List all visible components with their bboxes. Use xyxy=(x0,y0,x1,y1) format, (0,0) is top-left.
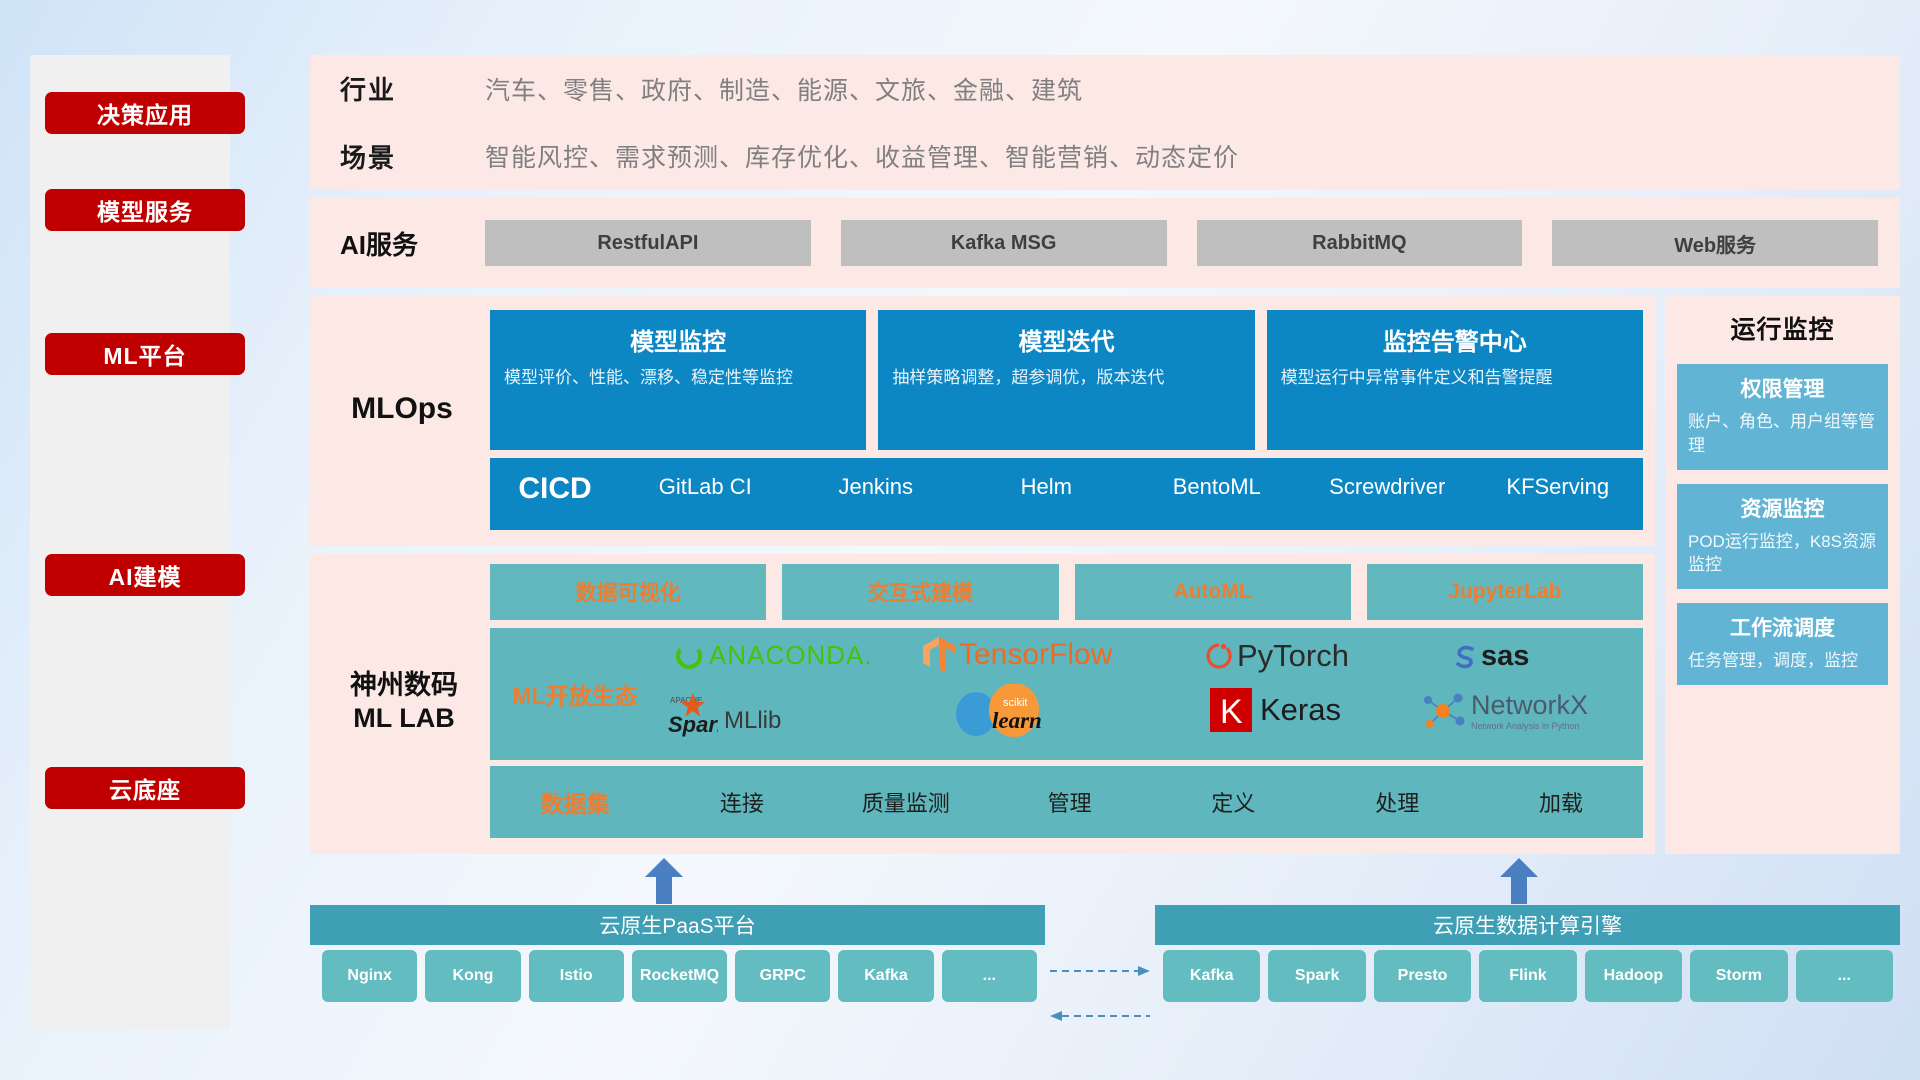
tool-interactive-modeling[interactable]: 交互式建模 xyxy=(782,564,1058,620)
keras-mark: K xyxy=(1208,686,1252,734)
ml-ecosystem-row: ML开放生态 ANACONDA. TensorFlow xyxy=(490,628,1643,760)
dashed-arrow-left-icon xyxy=(1050,1010,1150,1022)
mlops-card-model-monitoring[interactable]: 模型监控 模型评价、性能、漂移、稳定性等监控 xyxy=(490,310,866,450)
networkx-tagline: Network Analysis in Python xyxy=(1471,721,1588,731)
ml-lab-label-line1: 神州数码 xyxy=(324,669,484,702)
keras-wordmark: Keras xyxy=(1260,692,1341,728)
sas-logo: sas xyxy=(1450,640,1529,673)
ai-service-chip-restfulapi[interactable]: RestfulAPI xyxy=(485,220,811,266)
tool-data-visualization[interactable]: 数据可视化 xyxy=(490,564,766,620)
ml-lab-label-line2: ML LAB xyxy=(324,702,484,735)
cicd-title: CICD xyxy=(490,472,620,506)
data-chip-more[interactable]: ... xyxy=(1796,950,1893,1002)
runtime-monitoring-panel: 运行监控 权限管理 账户、角色、用户组等管理 资源监控 POD运行监控，K8S资… xyxy=(1665,296,1900,854)
industry-row: 行业 汽车、零售、政府、制造、能源、文旅、金融、建筑 xyxy=(310,55,1900,123)
networkx-logo: NetworkX Network Analysis in Python xyxy=(1420,688,1588,734)
rail-chip-cloud-base[interactable]: 云底座 xyxy=(45,767,245,809)
scikit-learn-logo: scikit learn xyxy=(950,684,1080,740)
card-desc: 抽样策略调整，超参调优，版本迭代 xyxy=(892,366,1240,390)
scenario-label: 场景 xyxy=(340,138,485,175)
cicd-item-screwdriver[interactable]: Screwdriver xyxy=(1302,472,1473,502)
dataset-row: 数据集 连接 质量监测 管理 定义 处理 加载 xyxy=(490,766,1643,838)
dataset-item-connect[interactable]: 连接 xyxy=(660,786,824,818)
dataset-item-define[interactable]: 定义 xyxy=(1151,786,1315,818)
industry-label: 行业 xyxy=(340,70,485,107)
ai-service-items: RestfulAPI Kafka MSG RabbitMQ Web服务 xyxy=(485,220,1900,266)
spark-mllib-logo: APACHE Spark MLlib xyxy=(668,690,781,738)
svg-text:Spark: Spark xyxy=(668,712,718,737)
decision-apps-band: 行业 汽车、零售、政府、制造、能源、文旅、金融、建筑 场景 智能风控、需求预测、… xyxy=(310,55,1900,190)
tensorflow-logo: TensorFlow xyxy=(922,636,1112,674)
dashed-arrow-right-icon xyxy=(1050,965,1150,977)
rail-chip-ml-platform[interactable]: ML平台 xyxy=(45,333,245,375)
card-desc: 账户、角色、用户组等管理 xyxy=(1688,410,1877,458)
paas-chip-nginx[interactable]: Nginx xyxy=(322,950,417,1002)
svg-text:learn: learn xyxy=(992,708,1042,733)
rail-chip-decision-apps[interactable]: 决策应用 xyxy=(45,92,245,134)
rail-chip-model-service[interactable]: 模型服务 xyxy=(45,189,245,231)
mlops-card-alert-center[interactable]: 监控告警中心 模型运行中异常事件定义和告警提醒 xyxy=(1267,310,1643,450)
anaconda-mark xyxy=(674,641,704,671)
cicd-item-gitlab-ci[interactable]: GitLab CI xyxy=(620,472,791,502)
paas-chip-grpc[interactable]: GRPC xyxy=(735,950,830,1002)
data-chip-spark[interactable]: Spark xyxy=(1268,950,1365,1002)
card-title: 权限管理 xyxy=(1688,373,1877,403)
paas-chip-kafka[interactable]: Kafka xyxy=(838,950,933,1002)
monitor-card-workflow[interactable]: 工作流调度 任务管理，调度，监控 xyxy=(1677,603,1888,685)
tensorflow-mark xyxy=(922,636,956,674)
anaconda-wordmark: ANACONDA. xyxy=(709,640,873,671)
svg-text:K: K xyxy=(1220,693,1243,731)
anaconda-logo: ANACONDA. xyxy=(674,640,873,671)
diagram-canvas: 决策应用 模型服务 ML平台 AI建模 云底座 行业 汽车、零售、政府、制造、能… xyxy=(0,0,1920,1080)
data-engine-chip-row: Kafka Spark Presto Flink Hadoop Storm ..… xyxy=(1163,950,1893,1002)
sas-mark xyxy=(1450,642,1480,672)
card-desc: POD运行监控，K8S资源监控 xyxy=(1688,530,1877,578)
networkx-mark xyxy=(1420,688,1466,734)
ai-service-chip-web[interactable]: Web服务 xyxy=(1552,220,1878,266)
data-chip-presto[interactable]: Presto xyxy=(1374,950,1471,1002)
cicd-row: CICD GitLab CI Jenkins Helm BentoML Scre… xyxy=(490,458,1643,530)
paas-chip-more[interactable]: ... xyxy=(942,950,1037,1002)
pytorch-wordmark: PyTorch xyxy=(1237,638,1349,674)
scenario-values: 智能风控、需求预测、库存优化、收益管理、智能营销、动态定价 xyxy=(485,138,1239,174)
data-chip-flink[interactable]: Flink xyxy=(1479,950,1576,1002)
tool-jupyterlab[interactable]: JupyterLab xyxy=(1367,564,1643,620)
scenario-row: 场景 智能风控、需求预测、库存优化、收益管理、智能营销、动态定价 xyxy=(310,123,1900,191)
paas-chip-row: Nginx Kong Istio RocketMQ GRPC Kafka ... xyxy=(322,950,1037,1002)
ai-service-chip-rabbitmq[interactable]: RabbitMQ xyxy=(1197,220,1523,266)
tensorflow-wordmark: TensorFlow xyxy=(959,638,1112,672)
card-title: 资源监控 xyxy=(1688,493,1877,523)
industry-values: 汽车、零售、政府、制造、能源、文旅、金融、建筑 xyxy=(485,71,1083,107)
pytorch-logo: PyTorch xyxy=(1205,638,1349,674)
cicd-item-jenkins[interactable]: Jenkins xyxy=(791,472,962,502)
cicd-item-helm[interactable]: Helm xyxy=(961,472,1132,502)
ml-ecosystem-logos: ANACONDA. TensorFlow PyTorch xyxy=(660,628,1643,760)
paas-chip-rocketmq[interactable]: RocketMQ xyxy=(632,950,727,1002)
tool-automl[interactable]: AutoML xyxy=(1075,564,1351,620)
ml-ecosystem-title: ML开放生态 xyxy=(490,677,660,711)
runtime-monitoring-title: 运行监控 xyxy=(1665,296,1900,350)
monitor-card-resource[interactable]: 资源监控 POD运行监控，K8S资源监控 xyxy=(1677,484,1888,590)
ai-service-chip-kafka-msg[interactable]: Kafka MSG xyxy=(841,220,1167,266)
up-arrow-paas-icon xyxy=(645,858,683,904)
cicd-item-kfserving[interactable]: KFServing xyxy=(1473,472,1644,502)
mllib-wordmark: MLlib xyxy=(724,707,781,735)
paas-chip-kong[interactable]: Kong xyxy=(425,950,520,1002)
data-chip-kafka[interactable]: Kafka xyxy=(1163,950,1260,1002)
data-chip-hadoop[interactable]: Hadoop xyxy=(1585,950,1682,1002)
mlops-card-model-iteration[interactable]: 模型迭代 抽样策略调整，超参调优，版本迭代 xyxy=(878,310,1254,450)
networkx-wordmark: NetworkX xyxy=(1471,692,1588,719)
data-chip-storm[interactable]: Storm xyxy=(1690,950,1787,1002)
card-title: 工作流调度 xyxy=(1688,612,1877,642)
dataset-item-manage[interactable]: 管理 xyxy=(988,786,1152,818)
monitor-card-permission[interactable]: 权限管理 账户、角色、用户组等管理 xyxy=(1677,364,1888,470)
paas-chip-istio[interactable]: Istio xyxy=(529,950,624,1002)
card-desc: 模型运行中异常事件定义和告警提醒 xyxy=(1281,366,1629,390)
sas-wordmark: sas xyxy=(1481,640,1529,673)
paas-header: 云原生PaaS平台 xyxy=(310,905,1045,945)
dataset-title: 数据集 xyxy=(490,785,660,819)
card-title: 模型迭代 xyxy=(892,322,1240,357)
card-desc: 任务管理，调度，监控 xyxy=(1688,649,1877,673)
rail-chip-ai-modeling[interactable]: AI建模 xyxy=(45,554,245,596)
ml-lab-tools: 数据可视化 交互式建模 AutoML JupyterLab xyxy=(490,564,1643,620)
card-title: 监控告警中心 xyxy=(1281,322,1629,357)
keras-logo: K Keras xyxy=(1208,686,1341,734)
cicd-item-bentoml[interactable]: BentoML xyxy=(1132,472,1303,502)
scikit-learn-mark: scikit learn xyxy=(950,684,1080,740)
ai-service-label: AI服务 xyxy=(340,225,485,262)
ml-lab-label: 神州数码 ML LAB xyxy=(324,669,484,735)
mlops-cards: 模型监控 模型评价、性能、漂移、稳定性等监控 模型迭代 抽样策略调整，超参调优，… xyxy=(490,310,1643,450)
spark-mark: APACHE Spark xyxy=(668,690,718,738)
data-engine-header: 云原生数据计算引擎 xyxy=(1155,905,1900,945)
pytorch-mark xyxy=(1205,640,1233,672)
mlops-band: MLOps 模型监控 模型评价、性能、漂移、稳定性等监控 模型迭代 抽样策略调整… xyxy=(310,296,1655,546)
up-arrow-data-engine-icon xyxy=(1500,858,1538,904)
dataset-item-quality-monitoring[interactable]: 质量监测 xyxy=(824,786,988,818)
mlops-label: MLOps xyxy=(332,392,472,426)
ml-lab-band: 神州数码 ML LAB 数据可视化 交互式建模 AutoML JupyterLa… xyxy=(310,554,1655,854)
dataset-item-load[interactable]: 加载 xyxy=(1479,786,1643,818)
dataset-item-process[interactable]: 处理 xyxy=(1315,786,1479,818)
card-title: 模型监控 xyxy=(504,322,852,357)
card-desc: 模型评价、性能、漂移、稳定性等监控 xyxy=(504,366,852,390)
ai-service-band: AI服务 RestfulAPI Kafka MSG RabbitMQ Web服务 xyxy=(310,198,1900,288)
